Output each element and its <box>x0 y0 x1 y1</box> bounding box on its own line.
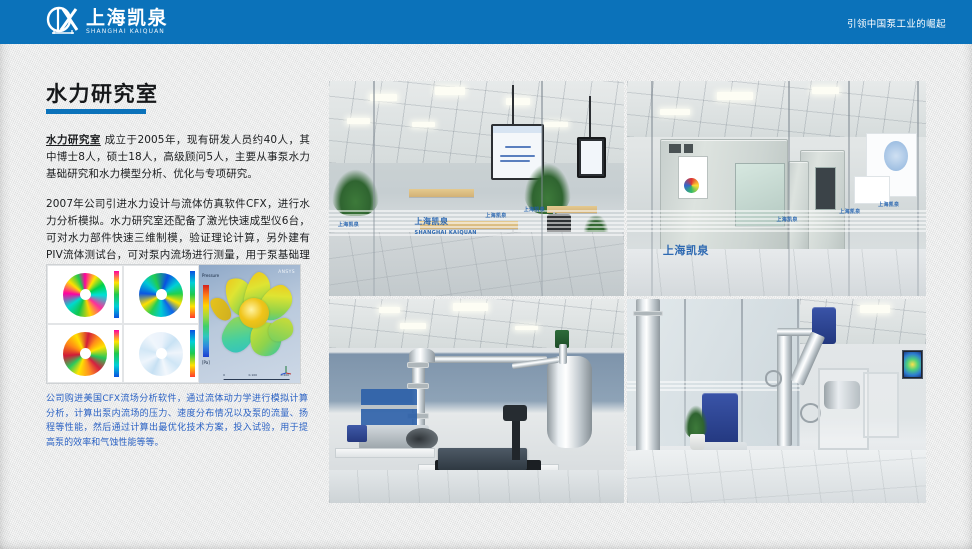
ceiling-light <box>515 326 539 331</box>
page-title: 水力研究室 <box>46 82 310 106</box>
ceiling-light <box>660 109 690 115</box>
title-underline-rule <box>46 109 146 114</box>
elbow-pipe <box>409 348 436 362</box>
pump-suction-cone <box>406 428 438 450</box>
ansys-watermark: ANSYS <box>278 270 295 275</box>
glass-decal-logo-small: 上海凯泉 <box>524 206 545 213</box>
logo-chinese-name: 上海凯泉 <box>86 8 168 28</box>
impeller-contour-pressure-icon <box>63 273 107 317</box>
potted-plant <box>684 405 708 438</box>
ceiling-light <box>412 122 436 128</box>
valve-handwheel[interactable] <box>765 370 783 386</box>
test-stand-frame-2 <box>863 372 899 437</box>
discharge-pipe-vertical <box>777 332 793 446</box>
glass-decal-logo-small: 上海凯泉 <box>338 221 359 228</box>
contour-plot-2 <box>123 265 199 324</box>
intro-lead-term: 水力研究室 <box>46 134 101 146</box>
wall-display-screen[interactable] <box>902 350 923 379</box>
office-desk <box>409 189 474 198</box>
ceiling-light <box>812 87 839 93</box>
large-vertical-pipe <box>636 299 660 474</box>
work-bench <box>335 448 435 458</box>
machine-color-chart <box>684 178 699 193</box>
tiled-floor <box>329 470 624 503</box>
brand-logo[interactable]: 上海凯泉 SHANGHAI KAIQUAN <box>46 6 168 37</box>
contour-plot-4 <box>123 324 199 383</box>
glass-decal-logo: 上海凯泉 <box>663 242 709 258</box>
axis-triad-icon <box>280 363 292 375</box>
ceiling-light <box>347 118 371 124</box>
glass-mullion <box>788 81 790 296</box>
cabinet-unit <box>788 161 809 253</box>
contour-plot-3 <box>47 324 123 383</box>
contour-colorbar <box>114 271 119 318</box>
slide-root: 上海凯泉 SHANGHAI KAIQUAN 引领中国泵工业的崛起 水力研究室 水… <box>0 0 972 549</box>
machine-vent <box>669 144 681 153</box>
monitor-mount-rod <box>512 85 514 126</box>
ceiling-light <box>544 122 568 128</box>
legend-units: [Pa] <box>202 361 210 365</box>
glass-decal-logo-small: 上海凯泉 <box>878 201 899 208</box>
pressure-colorbar <box>203 285 209 357</box>
monitor-screen <box>581 141 603 174</box>
tank-riser-pipe <box>559 344 567 364</box>
monitor-text-line <box>500 160 529 162</box>
monitor-text-line <box>505 146 531 148</box>
plant-pot <box>690 434 705 450</box>
glass-decal-logo-small: 上海凯泉 <box>777 216 798 223</box>
ceiling-light <box>860 305 890 313</box>
rack-shelf <box>361 405 417 409</box>
pipe-flange <box>407 383 429 389</box>
contour-plot-1 <box>47 265 123 324</box>
ceiling-light <box>400 323 427 328</box>
intro-paragraph: 水力研究室 成立于2005年，现有研发人员约40人，其中博士8人，硕士18人，高… <box>46 132 310 183</box>
glass-decal-logo-en: SHANGHAI KAIQUAN <box>415 230 477 236</box>
photo-piv-test-rig[interactable] <box>329 299 624 503</box>
impeller-contour-grid <box>47 265 199 383</box>
contour-colorbar <box>190 330 195 377</box>
photo-gallery-grid: 上海凯泉 SHANGHAI KAIQUAN 上海凯泉 上海凯泉 上海凯泉 <box>329 81 926 503</box>
ceiling-light <box>453 303 488 311</box>
monitor-header-band <box>493 126 542 133</box>
stand-vessel <box>824 381 860 410</box>
ceiling-light <box>379 307 400 313</box>
scale-line <box>223 379 289 380</box>
ceiling-light <box>506 98 530 104</box>
machine-window <box>815 167 836 210</box>
legend-title: Pressure <box>202 274 219 278</box>
ceiling-light <box>435 87 465 95</box>
hanging-monitor-secondary[interactable] <box>577 137 607 178</box>
impeller-streamline-icon <box>139 332 183 376</box>
monitor-text-line <box>500 155 535 157</box>
monitor-mount-rod <box>589 96 591 137</box>
glass-mullion <box>917 81 919 296</box>
pipe-flange <box>633 311 663 316</box>
photo-pump-test-hall[interactable] <box>627 299 926 503</box>
glass-decal-logo-small: 上海凯泉 <box>485 212 506 219</box>
photo-rapid-prototyping-room[interactable]: 上海凯泉 上海凯泉 上海凯泉 上海凯泉 <box>627 81 926 296</box>
impeller-contour-velocity-icon <box>139 273 183 317</box>
ceiling-light <box>717 92 753 101</box>
pressure-vessel-tank <box>547 356 591 448</box>
pump-motor-small <box>347 425 368 441</box>
glass-decal-logo: 上海凯泉 <box>415 216 449 227</box>
machine-vent <box>684 144 693 153</box>
impeller-3d-model-view: ANSYS Pressure [Pa] 00.1000.200 <box>199 265 300 383</box>
wall-monitor <box>854 176 890 204</box>
glass-mullion <box>651 81 653 296</box>
header-bar: 上海凯泉 SHANGHAI KAIQUAN 引领中国泵工业的崛起 <box>0 0 972 44</box>
photo-hydraulic-design-office[interactable]: 上海凯泉 SHANGHAI KAIQUAN 上海凯泉 上海凯泉 上海凯泉 <box>329 81 624 296</box>
impeller-contour-pressure2-icon <box>63 332 107 376</box>
display-cfd-image <box>904 352 921 377</box>
logo-english-name: SHANGHAI KAIQUAN <box>86 28 168 36</box>
cfd-simulation-figure: ANSYS Pressure [Pa] 00.1000.200 <box>46 264 301 384</box>
tiled-floor <box>627 450 926 503</box>
glass-mullion <box>848 81 850 296</box>
glass-mullion <box>373 81 375 296</box>
cfd-figure-caption: 公司购进美国CFX流场分析软件，通过流体动力学进行模拟计算分析，计算出泵内流场的… <box>46 392 308 450</box>
header-slogan: 引领中国泵工业的崛起 <box>847 16 946 30</box>
glass-decal-logo-small: 上海凯泉 <box>839 208 860 215</box>
contour-colorbar <box>114 330 119 377</box>
laser-camera-head <box>503 405 527 421</box>
kaiquan-kx-monogram-icon <box>46 6 80 37</box>
glass-mullion <box>541 81 543 296</box>
left-content-column: 水力研究室 水力研究室 成立于2005年，现有研发人员约40人，其中博士8人，硕… <box>46 82 310 281</box>
glass-mullion <box>741 299 743 446</box>
pipe-flange <box>407 362 429 367</box>
contour-colorbar <box>190 271 195 318</box>
